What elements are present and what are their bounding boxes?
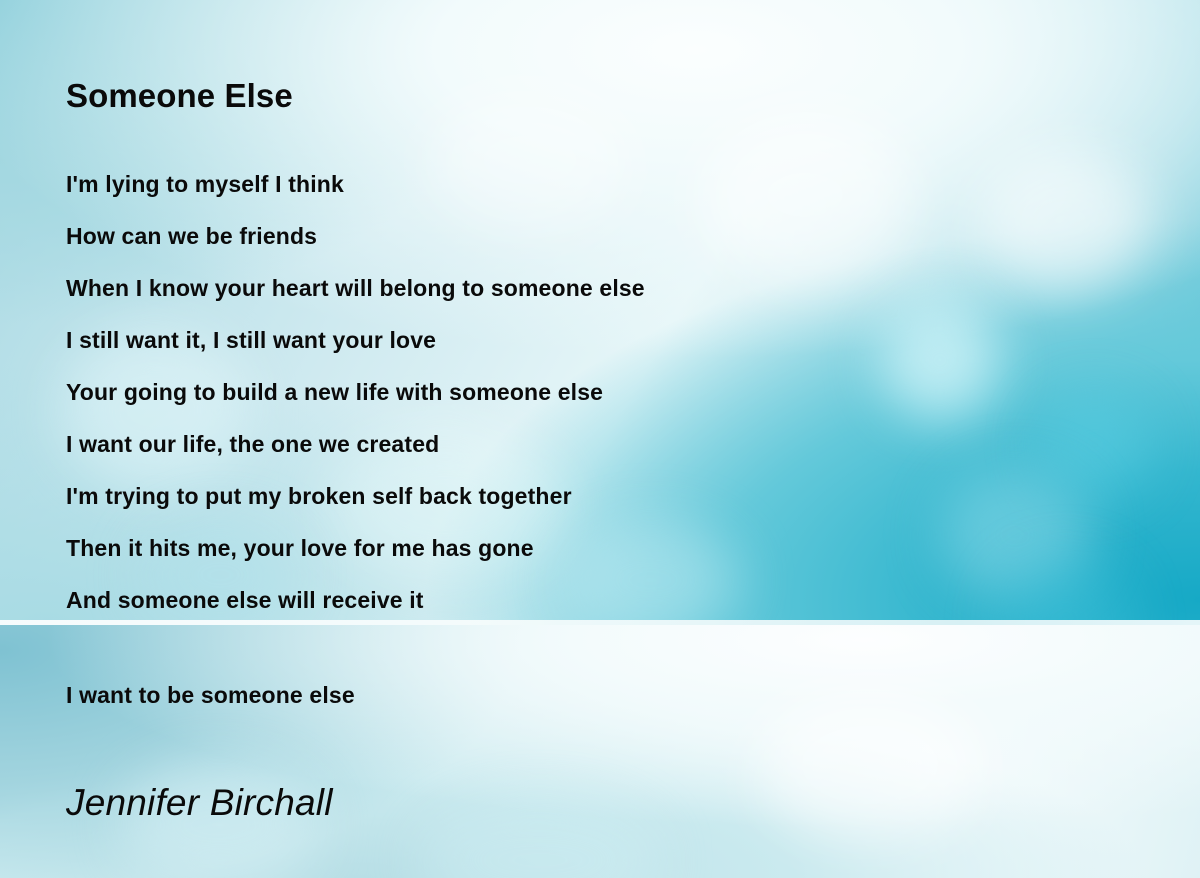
poem-line: Then it hits me, your love for me has go… bbox=[66, 522, 1126, 574]
poem-line: And someone else will receive it bbox=[66, 574, 1126, 626]
poem-line: When I know your heart will belong to so… bbox=[66, 262, 1126, 314]
poem-closing-line: I want to be someone else bbox=[66, 678, 355, 713]
poem-stanza: I'm lying to myself I think How can we b… bbox=[66, 158, 1126, 626]
poem-author: Jennifer Birchall bbox=[66, 780, 333, 826]
poem-line: I still want it, I still want your love bbox=[66, 314, 1126, 366]
poem-line: I want our life, the one we created bbox=[66, 418, 1126, 470]
poem-content: Someone Else I'm lying to myself I think… bbox=[0, 0, 1200, 878]
poem-line: Your going to build a new life with some… bbox=[66, 366, 1126, 418]
poem-image-card: Someone Else I'm lying to myself I think… bbox=[0, 0, 1200, 878]
poem-line: I'm trying to put my broken self back to… bbox=[66, 470, 1126, 522]
poem-line: How can we be friends bbox=[66, 210, 1126, 262]
poem-title: Someone Else bbox=[66, 78, 293, 114]
poem-line: I'm lying to myself I think bbox=[66, 158, 1126, 210]
